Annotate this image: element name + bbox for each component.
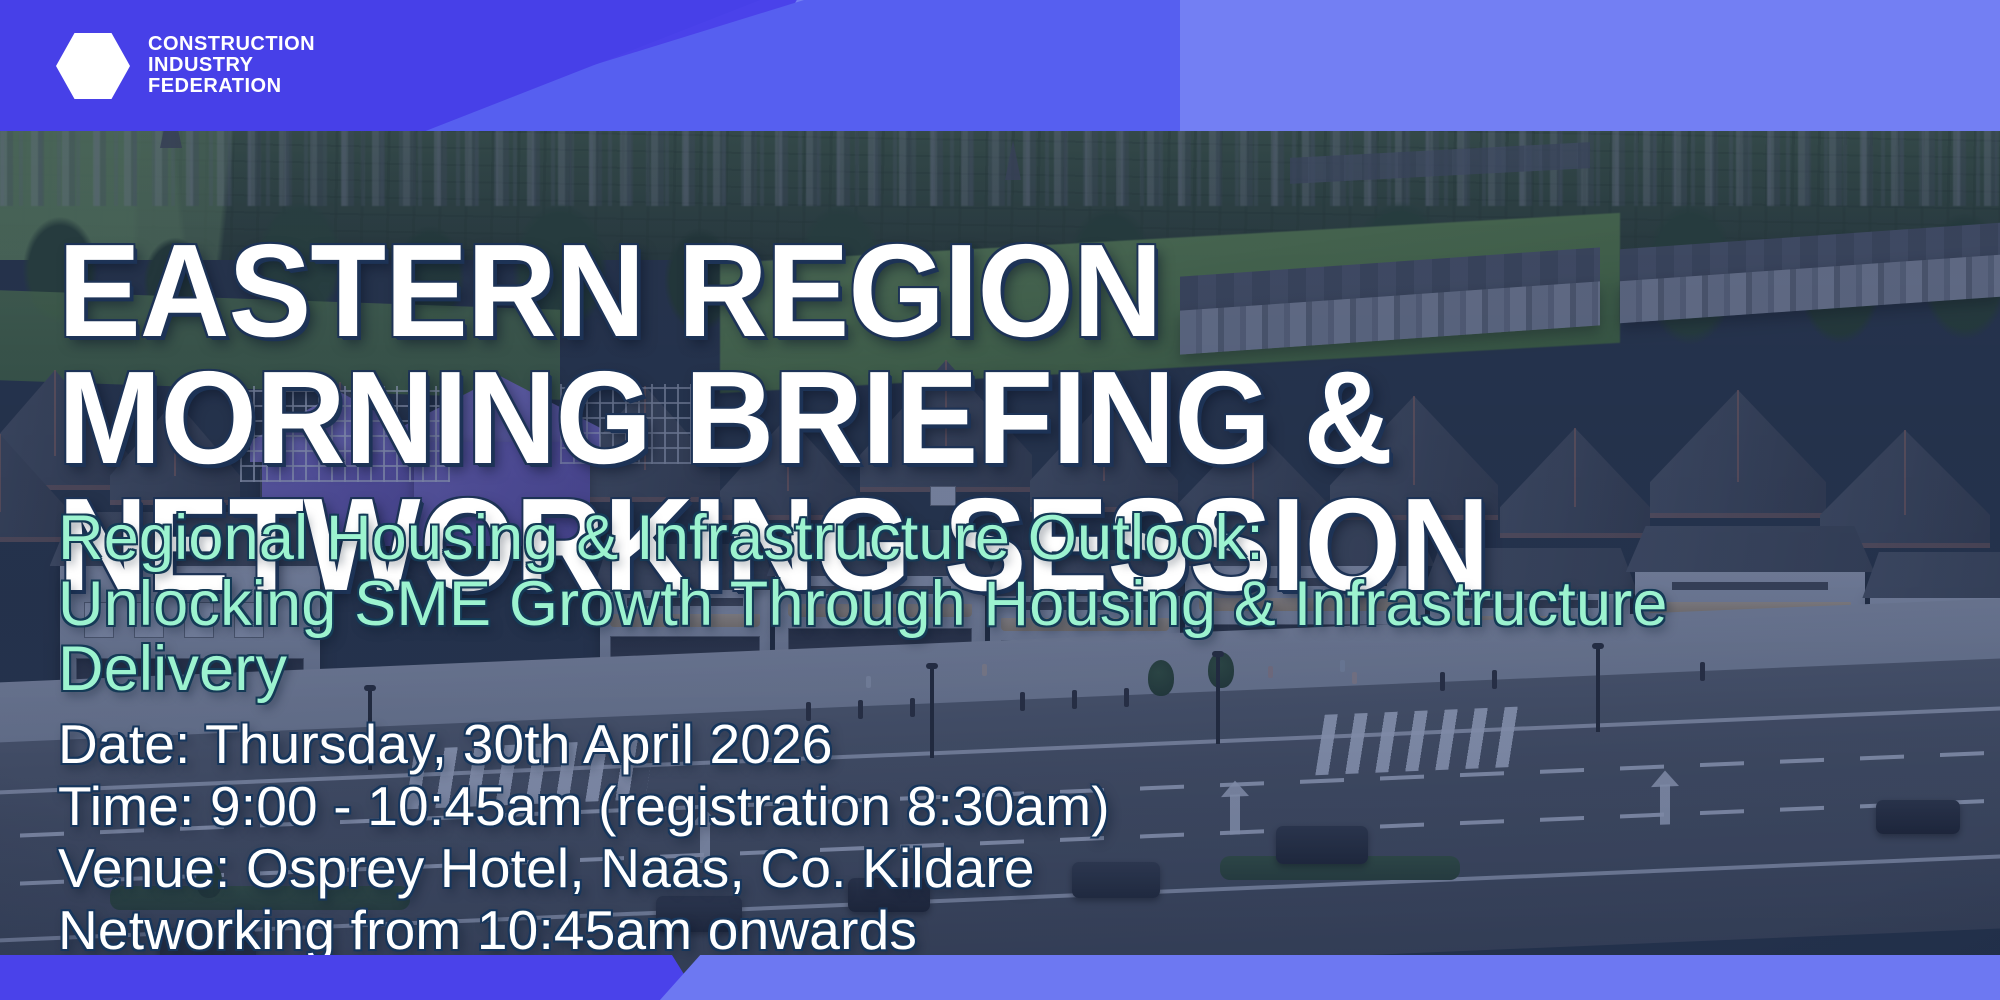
event-banner: CONSTRUCTION INDUSTRY FEDERATION EASTERN… <box>0 0 2000 1000</box>
subtitle-line-1: Regional Housing & Infrastructure Outloo… <box>58 506 1878 572</box>
title-line-1: EASTERN REGION MORNING BRIEFING & <box>58 217 1392 491</box>
event-networking: Networking from 10:45am onwards <box>58 899 1458 961</box>
subtitle-line-2: Unlocking SME Growth Through Housing & I… <box>58 572 1878 703</box>
event-time: Time: 9:00 - 10:45am (registration 8:30a… <box>58 775 1458 837</box>
footer-bar <box>0 955 2000 1000</box>
event-venue: Venue: Osprey Hotel, Naas, Co. Kildare <box>58 837 1458 899</box>
footer-shape-dark <box>0 955 700 1000</box>
hero-content: EASTERN REGION MORNING BRIEFING & NETWOR… <box>0 0 2000 1000</box>
footer-shape-light <box>660 955 2000 1000</box>
subtitle: Regional Housing & Infrastructure Outloo… <box>58 506 1878 703</box>
event-date: Date: Thursday, 30th April 2026 <box>58 713 1458 775</box>
event-details: Date: Thursday, 30th April 2026 Time: 9:… <box>58 713 1458 962</box>
